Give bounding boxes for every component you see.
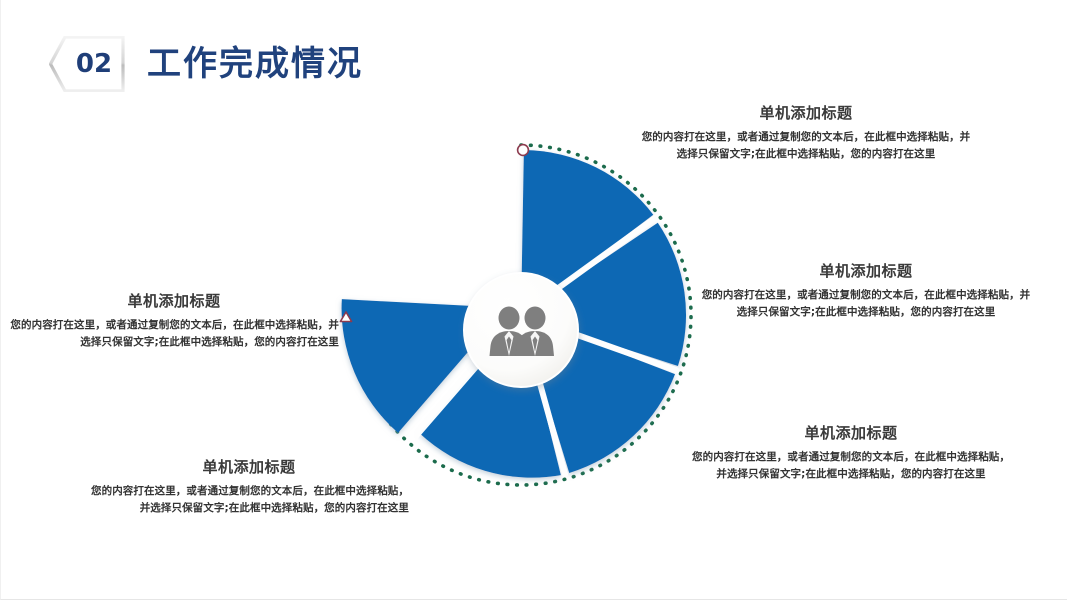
callout-body: 您的内容打在这里，或者通过复制您的文本后，在此框中选择粘贴，并选择只保留文字;在… (641, 129, 971, 164)
pie-segments (342, 150, 686, 478)
circle-marker-icon (518, 145, 529, 156)
callout-block-2: 单机添加标题 您的内容打在这里，或者通过复制您的文本后，在此框中选择粘贴，并选择… (701, 262, 1031, 322)
section-number: 02 (49, 36, 125, 92)
callout-title: 单机添加标题 (691, 424, 1011, 442)
pie-segment-4[interactable] (419, 315, 560, 478)
pie-segment-2[interactable] (521, 223, 686, 366)
pie-segment-5-exploded[interactable] (342, 299, 507, 433)
center-hub (464, 273, 578, 387)
callout-body: 您的内容打在这里，或者通过复制您的文本后，在此框中选择粘贴，并选择只保留文字;在… (9, 317, 339, 352)
pie-segment-1[interactable] (521, 150, 653, 315)
callout-block-3: 单机添加标题 您的内容打在这里，或者通过复制您的文本后，在此框中选择粘贴，并选择… (691, 424, 1011, 484)
callout-title: 单机添加标题 (9, 292, 339, 310)
segment-gaps (416, 218, 676, 474)
callout-title: 单机添加标题 (641, 104, 971, 122)
page-title: 工作完成情况 (147, 47, 363, 81)
callout-title: 单机添加标题 (89, 458, 409, 476)
two-people-icon (490, 307, 555, 357)
section-number-badge: 02 (49, 36, 125, 92)
callout-block-4: 单机添加标题 您的内容打在这里，或者通过复制您的文本后，在此框中选择粘贴，并选择… (89, 458, 409, 518)
callout-title: 单机添加标题 (701, 262, 1031, 280)
page-header: 02 工作完成情况 (49, 36, 363, 92)
pie-segment-3[interactable] (521, 315, 675, 473)
dotted-ring (351, 145, 691, 485)
triangle-marker-icon (340, 312, 351, 322)
callout-body: 您的内容打在这里，或者通过复制您的文本后，在此框中选择粘贴，并选择只保留文字;在… (89, 483, 409, 518)
callout-body: 您的内容打在这里，或者通过复制您的文本后，在此框中选择粘贴，并选择只保留文字;在… (701, 287, 1031, 322)
callout-block-5: 单机添加标题 您的内容打在这里，或者通过复制您的文本后，在此框中选择粘贴，并选择… (9, 292, 339, 352)
callout-body: 您的内容打在这里，或者通过复制您的文本后，在此框中选择粘贴，并选择只保留文字;在… (691, 449, 1011, 484)
callout-block-1: 单机添加标题 您的内容打在这里，或者通过复制您的文本后，在此框中选择粘贴，并选择… (641, 104, 971, 164)
